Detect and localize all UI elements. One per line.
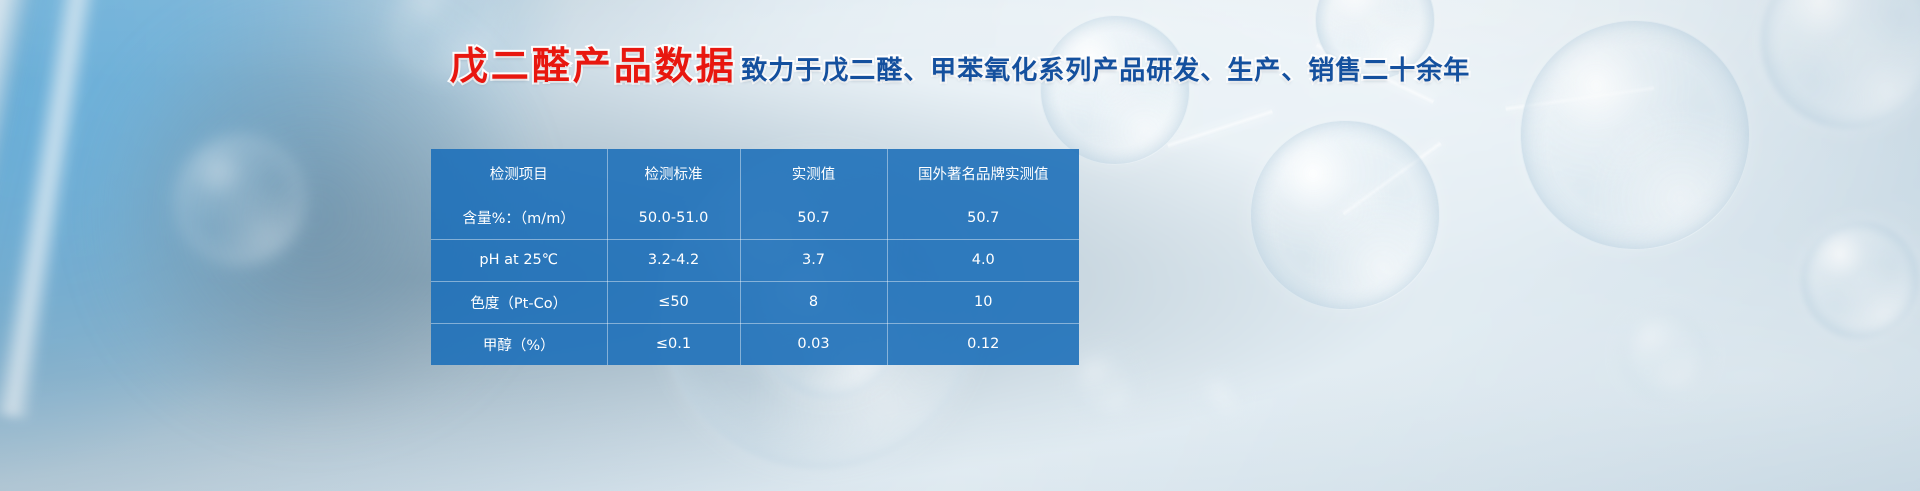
cell-measured: 50.7 bbox=[740, 197, 887, 239]
spec-table-container: 检测项目 检测标准 实测值 国外著名品牌实测值 含量%：（m/m） 50.0-5… bbox=[431, 149, 1079, 365]
table-row: 含量%：（m/m） 50.0-51.0 50.7 50.7 bbox=[431, 197, 1079, 239]
table-header: 检测项目 检测标准 实测值 国外著名品牌实测值 bbox=[431, 149, 1079, 197]
cell-measured: 8 bbox=[740, 281, 887, 323]
cell-standard: ≤0.1 bbox=[607, 323, 740, 365]
table-header-row: 检测项目 检测标准 实测值 国外著名品牌实测值 bbox=[431, 149, 1079, 197]
cell-measured: 3.7 bbox=[740, 239, 887, 281]
product-spec-table: 检测项目 检测标准 实测值 国外著名品牌实测值 含量%：（m/m） 50.0-5… bbox=[431, 149, 1079, 365]
product-data-banner: 戊二醛产品数据 致力于戊二醛、甲苯氧化系列产品研发、生产、销售二十余年 检测项目… bbox=[0, 0, 1920, 491]
cell-standard: 50.0-51.0 bbox=[607, 197, 740, 239]
cell-standard: 3.2-4.2 bbox=[607, 239, 740, 281]
column-header-measured: 实测值 bbox=[740, 149, 887, 197]
headline-block: 戊二醛产品数据 致力于戊二醛、甲苯氧化系列产品研发、生产、销售二十余年 bbox=[0, 44, 1920, 89]
table-row: pH at 25℃ 3.2-4.2 3.7 4.0 bbox=[431, 239, 1079, 281]
cell-item: 甲醇（%） bbox=[431, 323, 607, 365]
cell-standard: ≤50 bbox=[607, 281, 740, 323]
cell-foreign-brand: 0.12 bbox=[887, 323, 1079, 365]
table-row: 色度（Pt-Co） ≤50 8 10 bbox=[431, 281, 1079, 323]
cell-foreign-brand: 10 bbox=[887, 281, 1079, 323]
cell-item: 含量%：（m/m） bbox=[431, 197, 607, 239]
table-body: 含量%：（m/m） 50.0-51.0 50.7 50.7 pH at 25℃ … bbox=[431, 197, 1079, 365]
page-title: 戊二醛产品数据 bbox=[450, 44, 737, 89]
cell-item: pH at 25℃ bbox=[431, 239, 607, 281]
column-header-item: 检测项目 bbox=[431, 149, 607, 197]
cell-foreign-brand: 4.0 bbox=[887, 239, 1079, 281]
cell-measured: 0.03 bbox=[740, 323, 887, 365]
cell-foreign-brand: 50.7 bbox=[887, 197, 1079, 239]
column-header-foreign-brand: 国外著名品牌实测值 bbox=[887, 149, 1079, 197]
table-row: 甲醇（%） ≤0.1 0.03 0.12 bbox=[431, 323, 1079, 365]
cell-item: 色度（Pt-Co） bbox=[431, 281, 607, 323]
banner-content: 戊二醛产品数据 致力于戊二醛、甲苯氧化系列产品研发、生产、销售二十余年 检测项目… bbox=[0, 0, 1920, 491]
column-header-standard: 检测标准 bbox=[607, 149, 740, 197]
page-subtitle: 致力于戊二醛、甲苯氧化系列产品研发、生产、销售二十余年 bbox=[741, 56, 1470, 87]
